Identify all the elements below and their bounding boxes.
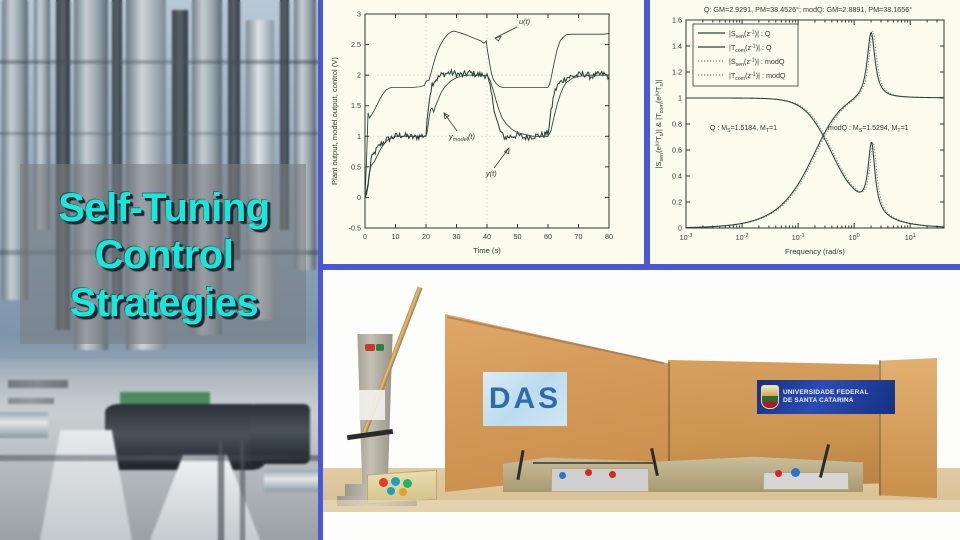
title-line-1: Self-Tuning [58,185,270,232]
slide-root: Self-Tuning Control Strategies 010203040… [0,0,960,540]
breadboard-center [551,468,649,492]
chart2-legend: |Ssen(z-1)| : Q|Tcom(z-1)| : Q|Ssen(z-1)… [693,24,798,86]
title-line-2: Control [95,232,234,279]
svg-text:30: 30 [453,232,461,241]
svg-text:70: 70 [575,232,583,241]
svg-text:0: 0 [678,224,682,233]
chart-sensitivity-frequency: Q: GM=2.9291, PM=38.4526°; modQ: GM=2.88… [650,0,960,264]
ufsc-logo-plate: UNIVERSIDADE FEDERAL DE SANTA CATARINA [757,380,895,414]
ufsc-label-line1: UNIVERSIDADE FEDERAL [783,389,869,397]
page-title: Self-Tuning Control Strategies [18,168,310,344]
svg-text:10: 10 [392,232,400,241]
chart1-ylabel: Plant output, model output, control (V) [330,57,339,185]
svg-text:0.4: 0.4 [672,172,682,181]
svg-text:50: 50 [514,232,522,241]
svg-text:1.6: 1.6 [672,16,682,25]
wind-tunnel-photo: DAS UNIVERSIDADE FEDERAL DE SANTA CATARI… [323,272,960,540]
ufsc-label-line2: DE SANTA CATARINA [783,397,869,405]
svg-text:0: 0 [357,193,361,202]
svg-text:1.4: 1.4 [672,42,682,51]
svg-text:1.2: 1.2 [672,68,682,77]
border-charts-bottom [323,264,960,270]
svg-text:0.6: 0.6 [672,146,682,155]
chart-time-response: 01020304050607080-0.500.511.522.53 u(t) … [323,0,644,264]
title-line-3: Strategies [70,280,258,327]
das-label-plate: DAS [483,372,567,426]
svg-text:-0.5: -0.5 [349,224,361,233]
svg-text:80: 80 [605,232,613,241]
svg-text:2.5: 2.5 [351,40,361,49]
svg-text:1: 1 [678,94,682,103]
svg-text:0.2: 0.2 [672,198,682,207]
svg-text:y(t): y(t) [485,169,497,178]
svg-text:2: 2 [357,71,361,80]
svg-text:60: 60 [544,232,552,241]
sensitivity-svg: Q: GM=2.9291, PM=38.4526°; modQ: GM=2.88… [650,0,960,264]
svg-text:20: 20 [422,232,430,241]
das-label: DAS [489,382,561,416]
svg-text:1.5: 1.5 [351,101,361,110]
time-response-svg: 01020304050607080-0.500.511.522.53 u(t) … [323,0,644,264]
svg-text:40: 40 [483,232,491,241]
svg-text:u(t): u(t) [519,17,531,26]
chart2-xlabel: Frequency (rad/s) [785,247,845,256]
chart2-title: Q: GM=2.9291, PM=38.4526°; modQ: GM=2.88… [704,5,912,14]
svg-text:0.5: 0.5 [351,162,361,171]
svg-text:0.8: 0.8 [672,120,682,129]
svg-text:1: 1 [357,132,361,141]
svg-text:3: 3 [357,10,361,19]
chart1-xlabel: Time (s) [473,246,501,255]
ufsc-crest-icon [761,385,779,409]
svg-text:0: 0 [363,232,367,241]
